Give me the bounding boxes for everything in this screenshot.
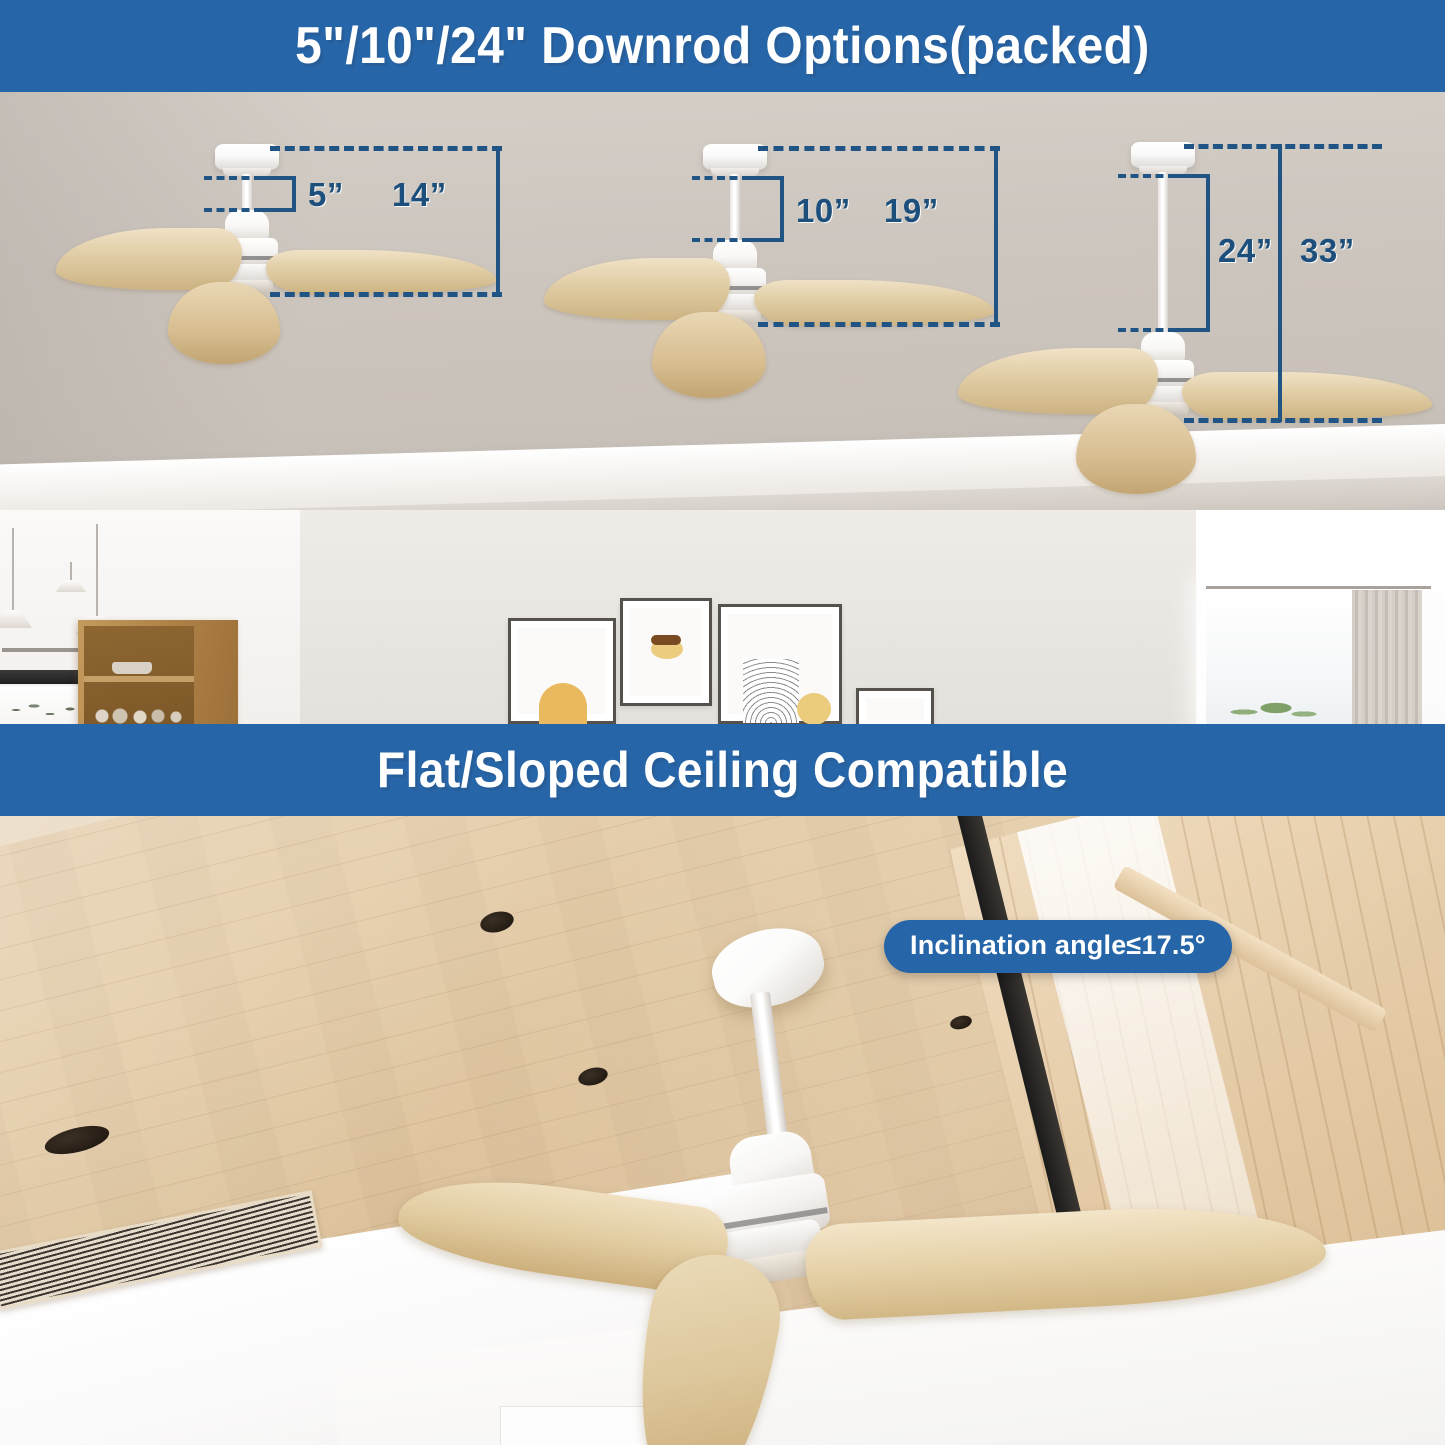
pendant-cord-1: [96, 524, 98, 620]
fan1-downrod-label: 5”: [308, 176, 344, 214]
banner-downrod-options: 5"/10"/24" Downrod Options(packed): [0, 0, 1445, 92]
fan1-total-label: 14”: [392, 176, 447, 214]
fan2-downrod-bracket: [750, 176, 784, 242]
top-room-scene: 5” 14” 10” 19”: [0, 92, 1445, 724]
picture-frame-3: [718, 604, 842, 724]
wooden-shelf-unit: [78, 620, 238, 724]
frame-art-rings: [743, 659, 799, 723]
fan1-top-guide: [270, 146, 502, 151]
bracket-top-dash: [1118, 174, 1176, 178]
fan2-total-label: 19”: [884, 192, 939, 230]
fan3-total-line: [1278, 144, 1282, 422]
bracket-bottom-dash: [692, 238, 750, 242]
fan2-blade-front: [652, 312, 766, 398]
fan1-downrod-bracket: [262, 176, 296, 212]
fan1-bottom-guide: [270, 292, 502, 297]
frame-art-arch: [539, 683, 587, 724]
banner-middle-text: Flat/Sloped Ceiling Compatible: [377, 741, 1068, 799]
inclination-angle-badge: Inclination angle≤17.5°: [884, 920, 1232, 973]
fan3-bottom-guide: [1184, 418, 1382, 423]
potted-palm: [1228, 698, 1318, 724]
bracket-top-dash: [204, 176, 262, 180]
fan2-downrod-label: 10”: [796, 192, 851, 230]
fan3-downrod: [1158, 172, 1168, 334]
pendant-cord-2: [12, 528, 14, 614]
fan3-top-guide: [1184, 144, 1382, 149]
fan2-downrod: [730, 174, 740, 242]
fan1-total-line: [496, 146, 500, 294]
fan3-downrod-bracket: [1176, 174, 1210, 332]
fan3-total-label: 33”: [1300, 232, 1355, 270]
picture-frame-2: [620, 598, 712, 706]
banner-top-text: 5"/10"/24" Downrod Options(packed): [295, 16, 1150, 76]
fan1-blade-front: [168, 282, 280, 364]
bracket-top-dash: [692, 176, 750, 180]
fan2-total-line: [994, 146, 998, 324]
picture-frame-1: [508, 618, 616, 724]
fan3-blade-front: [1076, 404, 1196, 494]
frame-art-circle: [797, 693, 831, 724]
curtain-rod: [1206, 586, 1431, 589]
fan3-downrod-label: 24”: [1218, 232, 1273, 270]
bracket-bottom-dash: [1118, 328, 1176, 332]
frame-mat: [866, 698, 924, 720]
curtain: [1352, 590, 1422, 724]
fan2-top-guide: [758, 146, 1000, 151]
shelf-divider: [84, 676, 194, 682]
banner-ceiling-compatible: Flat/Sloped Ceiling Compatible: [0, 724, 1445, 816]
shelf-jars: [92, 708, 186, 724]
frame-art-brush: [651, 635, 681, 645]
fan2-bottom-guide: [758, 322, 1000, 327]
bracket-bottom-dash: [204, 208, 262, 212]
product-infographic: 5"/10"/24" Downrod Options(packed): [0, 0, 1445, 1445]
shelf-bowl: [112, 662, 152, 674]
bottom-sloped-ceiling-scene: Inclination angle≤17.5°: [0, 816, 1445, 1445]
picture-frame-4: [856, 688, 934, 724]
